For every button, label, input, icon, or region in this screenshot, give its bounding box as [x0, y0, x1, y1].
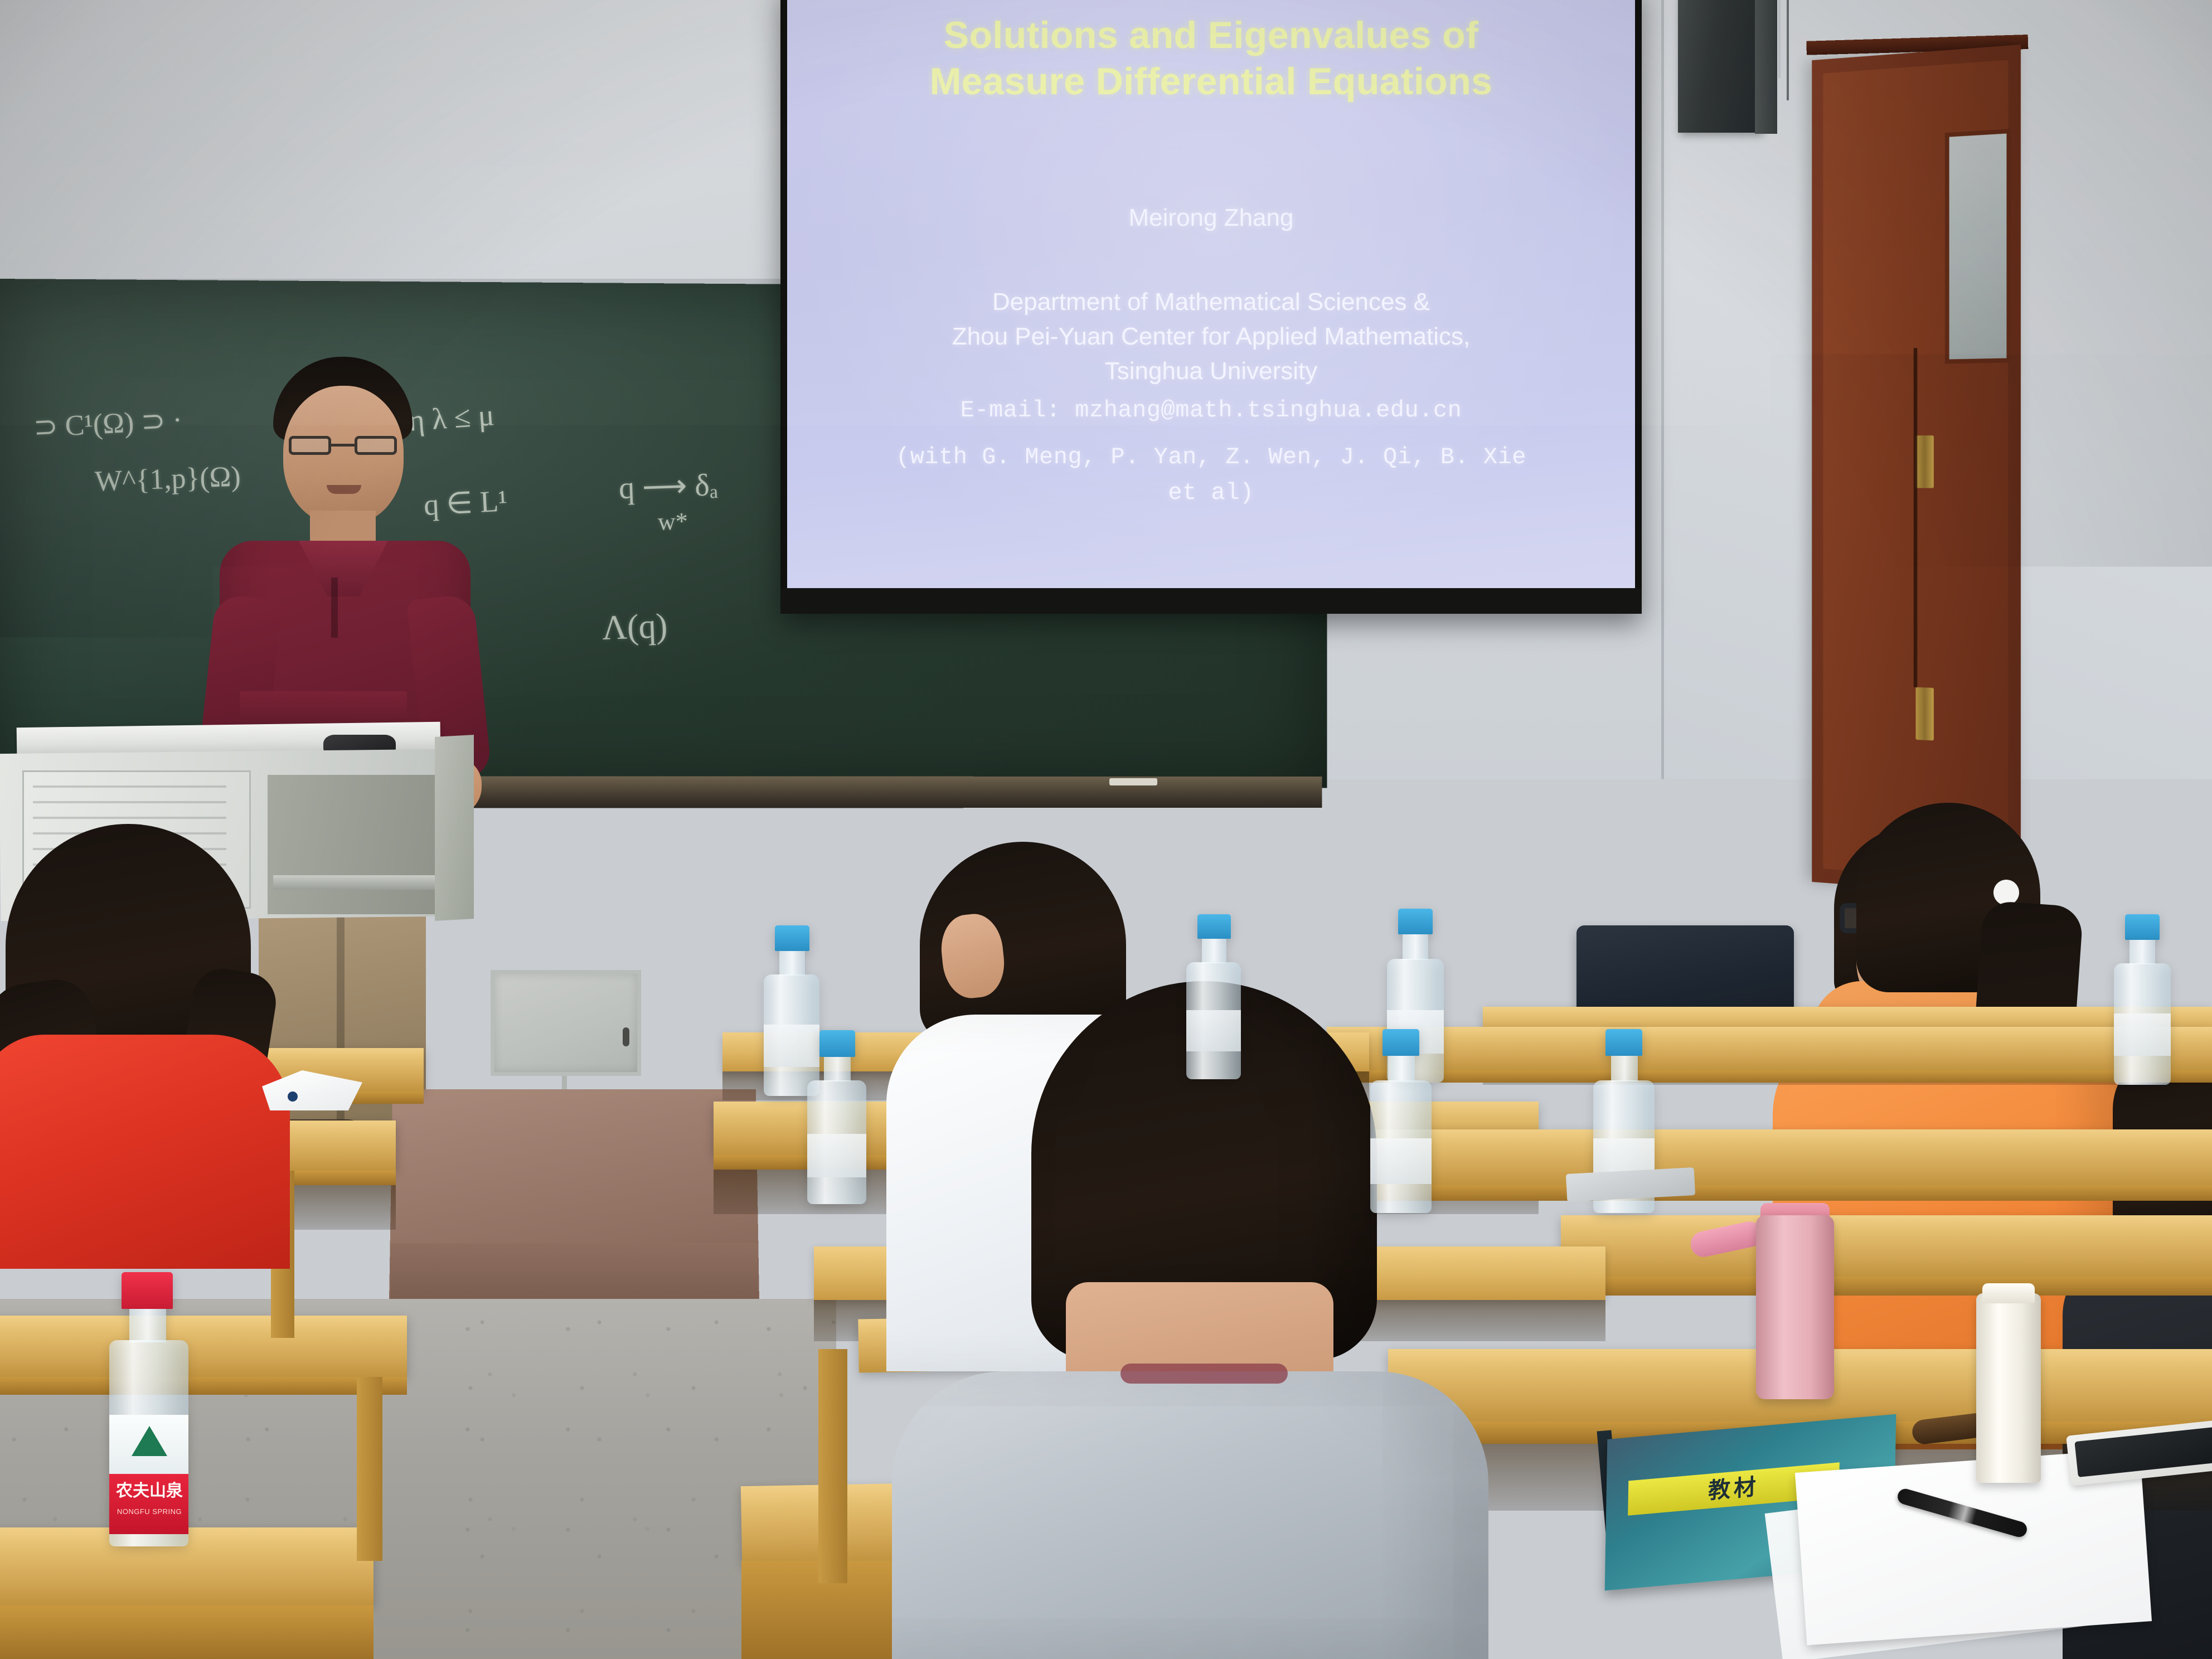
thermos-flask [1976, 1293, 2041, 1483]
door-seam [1914, 348, 1918, 687]
speaker-wire [1787, 0, 1789, 100]
desk-row-c-right-edge [1304, 1185, 2212, 1201]
slide-coauthors-line-2: et al) [787, 479, 1635, 506]
desk-row-d-right [1561, 1215, 2212, 1277]
projection-screen-frame: Solutions and Eigenvalues of Measure Dif… [780, 0, 1642, 613]
slide-affiliation-line-2: Zhou Pei-Yuan Center for Applied Mathema… [787, 321, 1635, 352]
notes-ink-mark [288, 1092, 298, 1102]
panel-latch [623, 1027, 629, 1046]
slide-affiliation-line-3: Tsinghua University [787, 356, 1635, 386]
desk-left-d-edge [0, 1605, 373, 1659]
upper-left-wall [0, 0, 797, 295]
desk-left-c [0, 1316, 407, 1377]
red-top [0, 1035, 290, 1269]
loudspeaker-icon [1678, 0, 1762, 133]
desk-leg-left-2 [357, 1377, 382, 1561]
lectern-shelf [268, 775, 446, 914]
hair-tie [1993, 880, 2019, 905]
classroom-door[interactable] [1812, 45, 2021, 898]
door-hinge-lower [1916, 687, 1934, 741]
wall-seam-secondary [1778, 0, 1781, 78]
slide-author: Meirong Zhang [787, 204, 1635, 232]
nongfu-label-cn: 农夫山泉 [111, 1481, 187, 1502]
desk-row-c-right [1304, 1129, 2212, 1185]
wall-access-panel [491, 970, 641, 1076]
nongfu-label-en: NONGFU SPRING [111, 1505, 187, 1519]
lectern-side-panel [435, 735, 474, 921]
slide-title-line-1: Solutions and Eigenvalues of [787, 12, 1635, 59]
shirt-collar [1120, 1364, 1288, 1384]
presenter-mouth [327, 485, 361, 494]
glasses-icon [289, 436, 399, 456]
nongfu-mountain-logo-icon [132, 1426, 167, 1456]
grey-tshirt [892, 1371, 1488, 1659]
slide-title-line-2: Measure Differential Equations [787, 59, 1635, 105]
slide-title: Solutions and Eigenvalues of Measure Dif… [787, 12, 1635, 105]
chalk-piece [1109, 778, 1157, 785]
thermos-cap [1982, 1283, 2035, 1303]
desk-row-d-right-edge [1561, 1277, 2212, 1296]
pink-water-bottle [1756, 1215, 1834, 1399]
slide-affiliation-line-1: Department of Mathematical Sciences & [787, 287, 1635, 317]
screen-bottom-bar [780, 588, 1642, 614]
classroom-photo: ⊃ C¹(Ω) ⊃ ·W^{1,p}(Ω)≥ η λ ≤ μq ∈ L¹q ⟶ … [0, 0, 2212, 1659]
projection-screen: Solutions and Eigenvalues of Measure Dif… [787, 0, 1635, 589]
slide-coauthors-line-1: (with G. Meng, P. Yan, Z. Wen, J. Qi, B.… [787, 444, 1635, 470]
desk-leg-front [818, 1349, 847, 1583]
desk-left-c-edge [0, 1377, 407, 1395]
slide-email: E-mail: mzhang@math.tsinghua.edu.cn [787, 397, 1635, 424]
door-hinge-upper [1916, 435, 1934, 488]
door-glass-pane [1945, 129, 2011, 364]
presenter-placket [331, 578, 338, 638]
desk-row-b [1327, 1027, 2212, 1070]
lectern-rail [273, 875, 440, 890]
desk-row-b-edge [1327, 1070, 2212, 1083]
loudspeaker-side [1755, 0, 1777, 134]
